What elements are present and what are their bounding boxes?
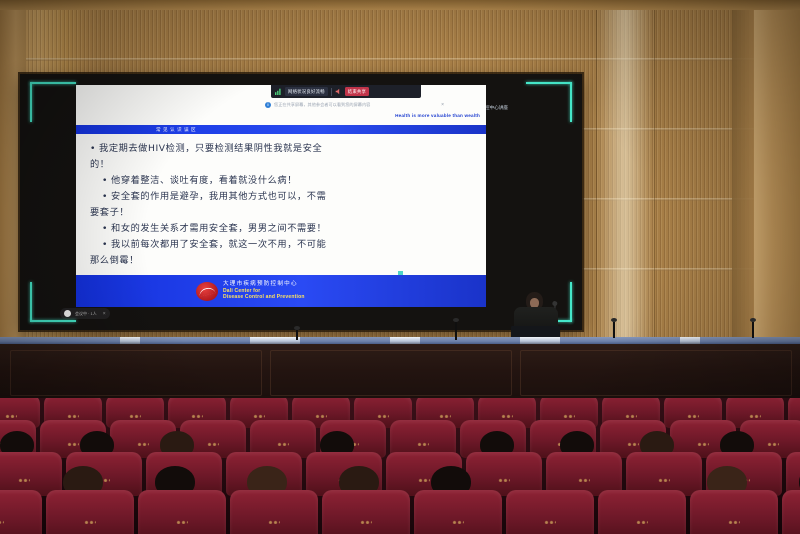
- table-microphone-icon: [455, 322, 457, 340]
- table-microphone-icon: [296, 330, 298, 340]
- wall-seam: [596, 0, 597, 370]
- bullet-marker: •: [102, 239, 108, 250]
- auditorium-seat: [598, 490, 686, 534]
- projection-screen: 正在共享：大理市疾控中心讲座 网络状况良好流畅 结束共享: [20, 74, 582, 330]
- auditorium-seat: [0, 490, 42, 534]
- powerpoint-slide: 网络状况良好流畅 结束共享 i 您正在共享屏幕，其他参会者可以看到您的屏幕内容 …: [76, 85, 486, 307]
- slide-footer-brand: 大理市疾病预防控制中心 Dali Center for Disease Cont…: [76, 275, 486, 307]
- auditorium-seat: [506, 490, 594, 534]
- auditorium-seat: [414, 490, 502, 534]
- meeting-toolbar[interactable]: 网络状况良好流畅 结束共享: [271, 85, 421, 98]
- bullet-text: 我定期去做HIV检测，只要检测结果阴性我就是安全: [99, 143, 322, 154]
- bullet-marker: •: [90, 143, 96, 154]
- auditorium-seat: [230, 490, 318, 534]
- slide-bullet: •和女的发生关系才需用安全套，男男之间不需要！: [90, 221, 482, 236]
- slide-bullet: •我定期去做HIV检测，只要检测结果阴性我就是安全: [90, 141, 482, 156]
- wall-light-sheen: [596, 0, 654, 370]
- bullet-text: 的！: [90, 159, 110, 170]
- wall-right-panel: [754, 0, 800, 370]
- auditorium-seat: [138, 490, 226, 534]
- bullet-text: 我以前每次都用了安全套，就这一次不用，不可能: [111, 239, 326, 250]
- slide-bullet: •安全套的作用是避孕，我用其他方式也可以，不需: [90, 189, 482, 204]
- auditorium-seat: [46, 490, 134, 534]
- info-icon: i: [265, 102, 271, 108]
- lecture-hall-scene: 正在共享：大理市疾控中心讲座 网络状况良好流畅 结束共享: [0, 0, 800, 534]
- bullet-text: 要套子！: [90, 207, 129, 218]
- share-notice-label: 您正在共享屏幕，其他参会者可以看到您的屏幕内容: [274, 102, 370, 108]
- cdc-logo-icon: [196, 282, 218, 301]
- brand-text: 大理市疾病预防控制中心 Dali Center for Disease Cont…: [223, 281, 305, 300]
- bullet-text: 那么倒霉！: [90, 255, 139, 266]
- wall-seam: [654, 0, 655, 370]
- network-status-pill[interactable]: 网络状况良好流畅: [285, 87, 328, 96]
- auditorium-seat: [782, 490, 800, 534]
- wall-right-column: [732, 0, 754, 370]
- org-name-cn: 大理市疾病预防控制中心: [223, 281, 305, 288]
- bullet-text: 他穿着整洁、谈吐有度，看着就没什么病！: [111, 175, 297, 186]
- slide-title: 常见认识误区: [156, 127, 198, 133]
- stage-table-front: [0, 344, 800, 404]
- slide-bullet-list: •我定期去做HIV检测，只要检测结果阴性我就是安全的！•他穿着整洁、谈吐有度，看…: [90, 141, 482, 269]
- table-panel: [520, 350, 792, 396]
- table-microphone-icon: [613, 322, 615, 338]
- meeting-chip-label: 会议中 · 1人: [75, 311, 97, 317]
- bullet-marker: •: [102, 175, 108, 186]
- close-icon[interactable]: ×: [441, 102, 444, 108]
- avatar: [64, 310, 71, 317]
- screen-surface: 正在共享：大理市疾控中心讲座 网络状况良好流畅 结束共享: [20, 74, 582, 330]
- auditorium-seat: [322, 490, 410, 534]
- table-panel: [270, 350, 512, 396]
- table-microphone-icon: [752, 322, 754, 338]
- ceiling-edge: [0, 0, 800, 10]
- share-notice-bar: i 您正在共享屏幕，其他参会者可以看到您的屏幕内容 ×: [262, 99, 447, 110]
- volume-icon[interactable]: [335, 88, 342, 95]
- toolbar-divider: [331, 88, 332, 96]
- close-icon[interactable]: ×: [103, 311, 106, 317]
- slide-bullet: •我以前每次都用了安全套，就这一次不用，不可能: [90, 237, 482, 252]
- bullet-marker: •: [102, 223, 108, 234]
- audience-seating: [0, 398, 800, 534]
- stage-table-top: [0, 337, 800, 344]
- signal-icon: [275, 88, 282, 95]
- slide-bullet: 要套子！: [90, 205, 482, 220]
- bullet-marker: •: [102, 191, 108, 202]
- org-name-en-line2: Disease Control and Prevention: [223, 294, 305, 300]
- slide-bullet: 那么倒霉！: [90, 253, 482, 268]
- meeting-floating-chip[interactable]: 会议中 · 1人 ×: [60, 308, 110, 319]
- stop-share-button[interactable]: 结束共享: [345, 87, 369, 96]
- slide-eyebrow-text: Health is more valuable than wealth: [395, 113, 480, 118]
- bullet-text: 和女的发生关系才需用安全套，男男之间不需要！: [111, 223, 326, 234]
- bullet-text: 安全套的作用是避孕，我用其他方式也可以，不需: [111, 191, 326, 202]
- table-panel: [10, 350, 262, 396]
- slide-bullet: 的！: [90, 157, 482, 172]
- slide-bullet: •他穿着整洁、谈吐有度，看着就没什么病！: [90, 173, 482, 188]
- auditorium-seat: [690, 490, 778, 534]
- slide-title-bar: 常见认识误区: [76, 125, 486, 134]
